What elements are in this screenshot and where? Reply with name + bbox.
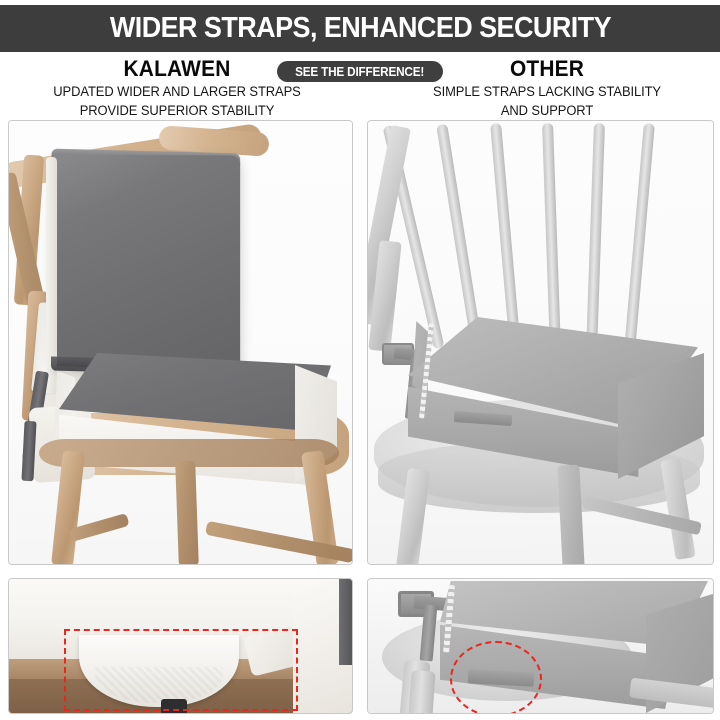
thin-strap-scene — [368, 579, 713, 713]
cushion-dark-edge — [339, 578, 353, 665]
highlight-ellipse-annotation — [450, 641, 542, 714]
left-brand-desc-line1: UPDATED WIDER AND LARGER STRAPS — [28, 84, 326, 101]
photo-panel-kalawen-main — [8, 120, 353, 565]
photo-panel-other-strap-detail — [367, 578, 714, 714]
badge-label: SEE THE DIFFERENCE! — [296, 65, 425, 79]
chair-leg-center — [408, 670, 435, 714]
right-brand-desc-line2: AND SUPPORT — [398, 103, 696, 120]
header-title: WIDER STRAPS, ENHANCED SECURITY — [109, 12, 610, 45]
backrest-white-edge — [46, 157, 57, 369]
photo-panel-kalawen-strap-detail — [8, 578, 353, 714]
see-the-difference-badge: SEE THE DIFFERENCE! — [277, 61, 443, 82]
highlight-rectangle-annotation — [64, 629, 298, 711]
wide-strap-scene — [9, 579, 352, 713]
right-brand-name: OTHER — [400, 56, 695, 82]
left-brand-desc-line2: PROVIDE SUPERIOR STABILITY — [28, 103, 326, 120]
right-brand-desc-line1: SIMPLE STRAPS LACKING STABILITY — [398, 84, 696, 101]
photo-panel-other-main — [367, 120, 714, 565]
other-chair-scene — [368, 121, 713, 564]
kalawen-chair-scene — [9, 121, 352, 564]
chair-leg-center — [175, 461, 199, 565]
backrest-cushion — [51, 155, 240, 375]
header-banner: WIDER STRAPS, ENHANCED SECURITY — [0, 5, 720, 52]
product-comparison-image: WIDER STRAPS, ENHANCED SECURITY KALAWEN … — [0, 0, 720, 720]
